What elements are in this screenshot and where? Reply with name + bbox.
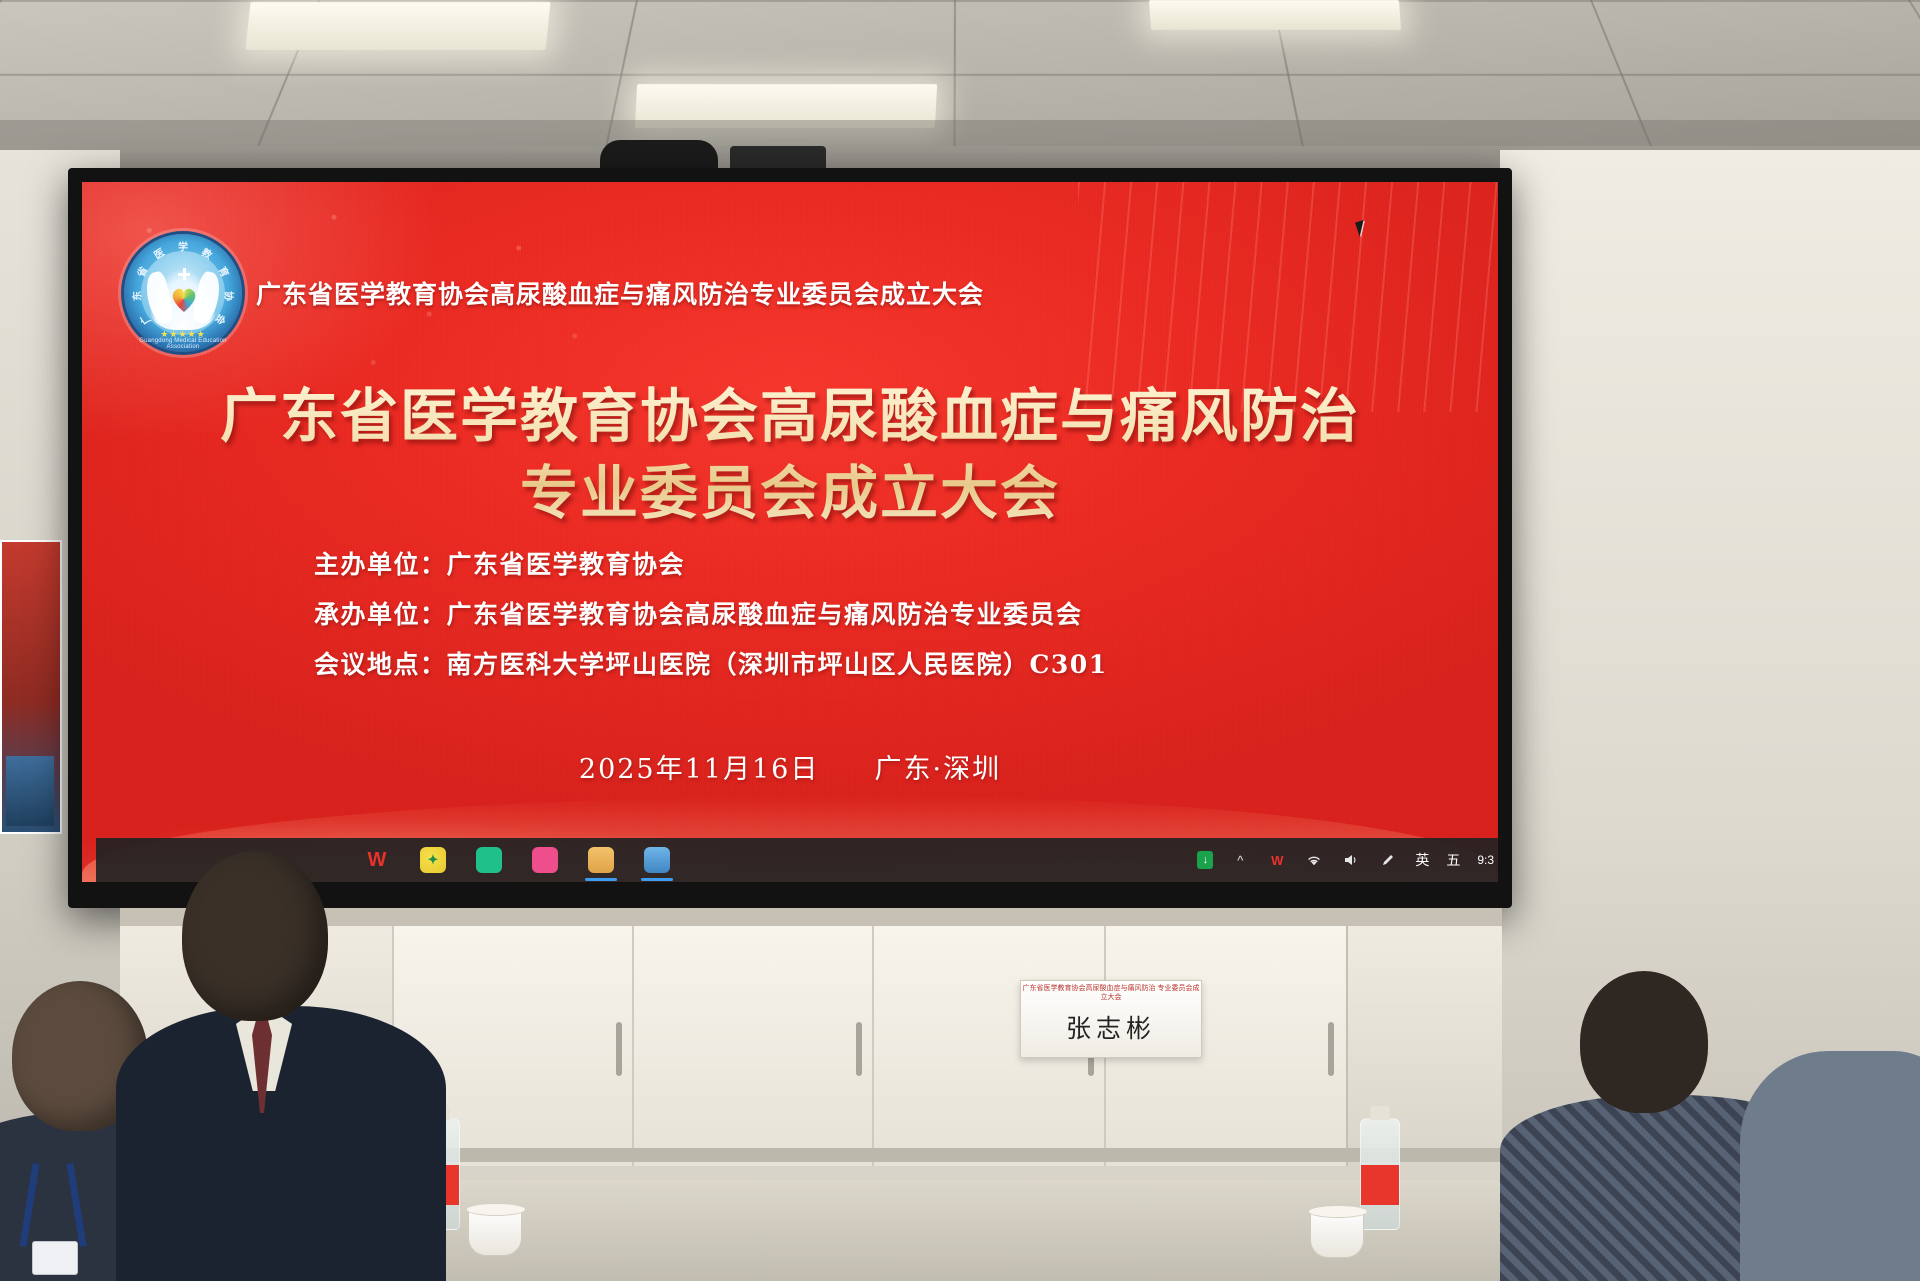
wall-poster [0, 540, 62, 834]
yellow-app-icon[interactable]: ✦ [420, 847, 446, 873]
slide-date: 2025年11月16日 [579, 754, 819, 785]
slide-main-title-line2: 专业委员会成立大会 [82, 455, 1498, 532]
ceiling-light-panel [245, 2, 550, 50]
name-plate-name: 张志彬 [1066, 1009, 1156, 1045]
led-display-screen[interactable]: ★★★★★ Guangdong Medical Education Associ… [82, 182, 1498, 882]
paper-cup [1310, 1208, 1364, 1258]
taskbar-clock[interactable]: 9:3 [1477, 854, 1494, 867]
media-player-icon[interactable] [644, 847, 670, 873]
presentation-slide: ★★★★★ Guangdong Medical Education Associ… [82, 182, 1498, 882]
file-explorer-icon[interactable] [588, 847, 614, 873]
name-plate-subtitle: 广东省医学教育协会高尿酸血症与痛风防治 专业委员会成立大会 [1021, 985, 1201, 1003]
slide-detail-organizer: 主办单位：广东省医学教育协会 [82, 552, 1498, 577]
conference-room-scene: ★★★★★ Guangdong Medical Education Associ… [0, 0, 1920, 1281]
slide-main-title: 广东省医学教育协会高尿酸血症与痛风防治 专业委员会成立大会 [82, 378, 1498, 532]
slide-header: ★★★★★ Guangdong Medical Education Associ… [124, 234, 984, 352]
green-shield-icon[interactable]: ↓ [1197, 851, 1213, 869]
slide-main-title-line1: 广东省医学教育协会高尿酸血症与痛风防治 [82, 378, 1498, 455]
ime-mode-indicator[interactable]: 五 [1446, 850, 1460, 870]
volume-icon[interactable] [1341, 850, 1361, 870]
wifi-icon[interactable] [1304, 850, 1324, 870]
cabinet-door [632, 926, 876, 1166]
slide-detail-host: 承办单位：广东省医学教育协会高尿酸血症与痛风防治专业委员会 [82, 602, 1498, 627]
ceiling-strip [0, 120, 1920, 146]
logo-rim-text: 广东省医学教育协会 [124, 234, 242, 352]
ime-language-indicator[interactable]: 英 [1415, 850, 1429, 870]
pink-app-icon[interactable] [532, 847, 558, 873]
green-app-icon[interactable] [476, 847, 502, 873]
slide-detail-venue: 会议地点：南方医科大学坪山医院（深圳市坪山区人民医院）C301 [82, 652, 1498, 677]
system-tray: ↓ ^ W 英 五 9:3 [1197, 850, 1498, 870]
lanyard-badge [20, 1161, 86, 1281]
paper-cup [468, 1206, 522, 1256]
show-hidden-icons-chevron-icon[interactable]: ^ [1230, 850, 1250, 870]
slide-header-title: 广东省医学教育协会高尿酸血症与痛风防治专业委员会成立大会 [256, 275, 984, 311]
pen-icon[interactable] [1378, 850, 1398, 870]
association-logo-icon: ★★★★★ Guangdong Medical Education Associ… [124, 234, 242, 352]
slide-date-location: 2025年11月16日 广东·深圳 [82, 747, 1498, 786]
wps-cloud-icon[interactable]: W [1267, 850, 1287, 870]
slide-location: 广东·深圳 [875, 754, 1002, 785]
audience-person-center-left [140, 851, 420, 1281]
audience-person-far-right [1740, 1051, 1920, 1281]
name-plate: 广东省医学教育协会高尿酸血症与痛风防治 专业委员会成立大会 张志彬 [1020, 980, 1202, 1058]
ceiling-light-panel [1149, 0, 1401, 30]
led-display-bezel: ★★★★★ Guangdong Medical Education Associ… [68, 168, 1512, 908]
slide-detail-lines: 主办单位：广东省医学教育协会 承办单位：广东省医学教育协会高尿酸血症与痛风防治专… [82, 552, 1498, 702]
